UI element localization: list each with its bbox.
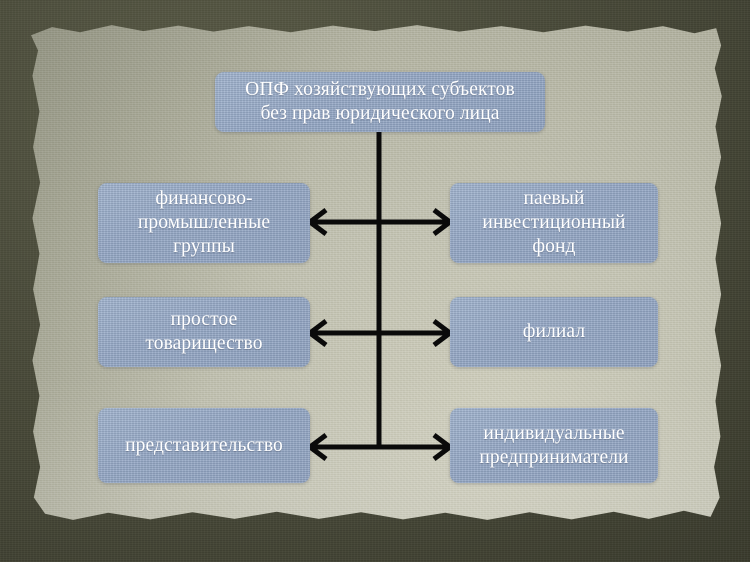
node-individual-entrepreneurs[interactable]: индивидуальные предприниматели (450, 408, 658, 483)
node-filial-line-1: филиал (523, 320, 585, 344)
node-financial-industrial-groups[interactable]: финансово- промышленные группы (98, 183, 310, 263)
node-branch[interactable]: филиал (450, 297, 658, 367)
node-mutual-investment-fund[interactable]: паевый инвестиционный фонд (450, 183, 658, 263)
slide-canvas: ОПФ хозяйствующих субъектов без прав юри… (0, 0, 750, 562)
node-ip-line-2: предприниматели (479, 446, 628, 470)
node-ip-line-1: индивидуальные (479, 422, 628, 446)
node-pif-line-3: фонд (482, 235, 625, 259)
node-representative-office[interactable]: представительство (98, 408, 310, 483)
node-fpg-line-1: финансово- (138, 187, 270, 211)
node-predstavitelstvo-line-1: представительство (125, 434, 283, 458)
node-fpg-line-2: промышленные (138, 211, 270, 235)
node-root-line-2: без прав юридического лица (245, 102, 515, 126)
node-root-line-1: ОПФ хозяйствующих субъектов (245, 78, 515, 102)
node-pt-line-2: товарищество (145, 332, 262, 356)
node-root[interactable]: ОПФ хозяйствующих субъектов без прав юри… (215, 72, 545, 132)
node-pif-line-1: паевый (482, 187, 625, 211)
node-pif-line-2: инвестиционный (482, 211, 625, 235)
node-pt-line-1: простое (145, 308, 262, 332)
node-fpg-line-3: группы (138, 235, 270, 259)
node-simple-partnership[interactable]: простое товарищество (98, 297, 310, 367)
